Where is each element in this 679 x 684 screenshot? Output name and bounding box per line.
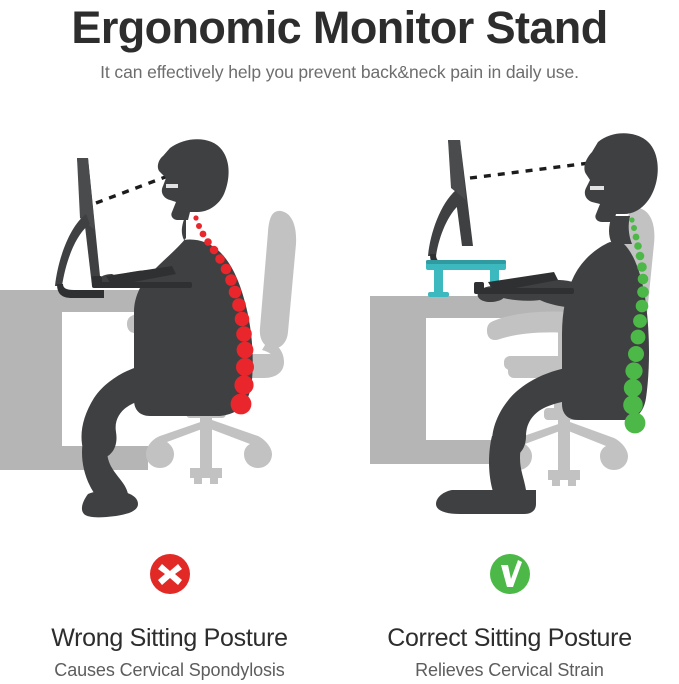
infographic-page: Ergonomic Monitor Stand It can effective… (0, 0, 679, 684)
page-subtitle: It can effectively help you prevent back… (0, 60, 679, 84)
monitor (428, 140, 473, 268)
caption-wrong-title: Wrong Sitting Posture (0, 622, 339, 654)
caption-wrong-subtitle: Causes Cervical Spondylosis (0, 657, 339, 683)
header: Ergonomic Monitor Stand It can effective… (0, 0, 679, 84)
caption-correct-subtitle: Relieves Cervical Strain (340, 657, 679, 683)
correct-posture-illustration (340, 118, 679, 518)
captions: Wrong Sitting Posture Causes Cervical Sp… (0, 548, 679, 684)
check-badge-icon (340, 548, 679, 600)
caption-wrong: Wrong Sitting Posture Causes Cervical Sp… (0, 548, 339, 683)
wrong-posture-illustration (0, 118, 339, 518)
monitor-stand-leg (55, 214, 90, 286)
caption-correct: Correct Sitting Posture Relieves Cervica… (340, 548, 679, 683)
illustration-panels (0, 118, 679, 538)
page-title: Ergonomic Monitor Stand (0, 2, 679, 54)
cross-badge-icon (0, 548, 339, 600)
sight-line (470, 162, 598, 178)
caption-correct-title: Correct Sitting Posture (340, 622, 679, 654)
